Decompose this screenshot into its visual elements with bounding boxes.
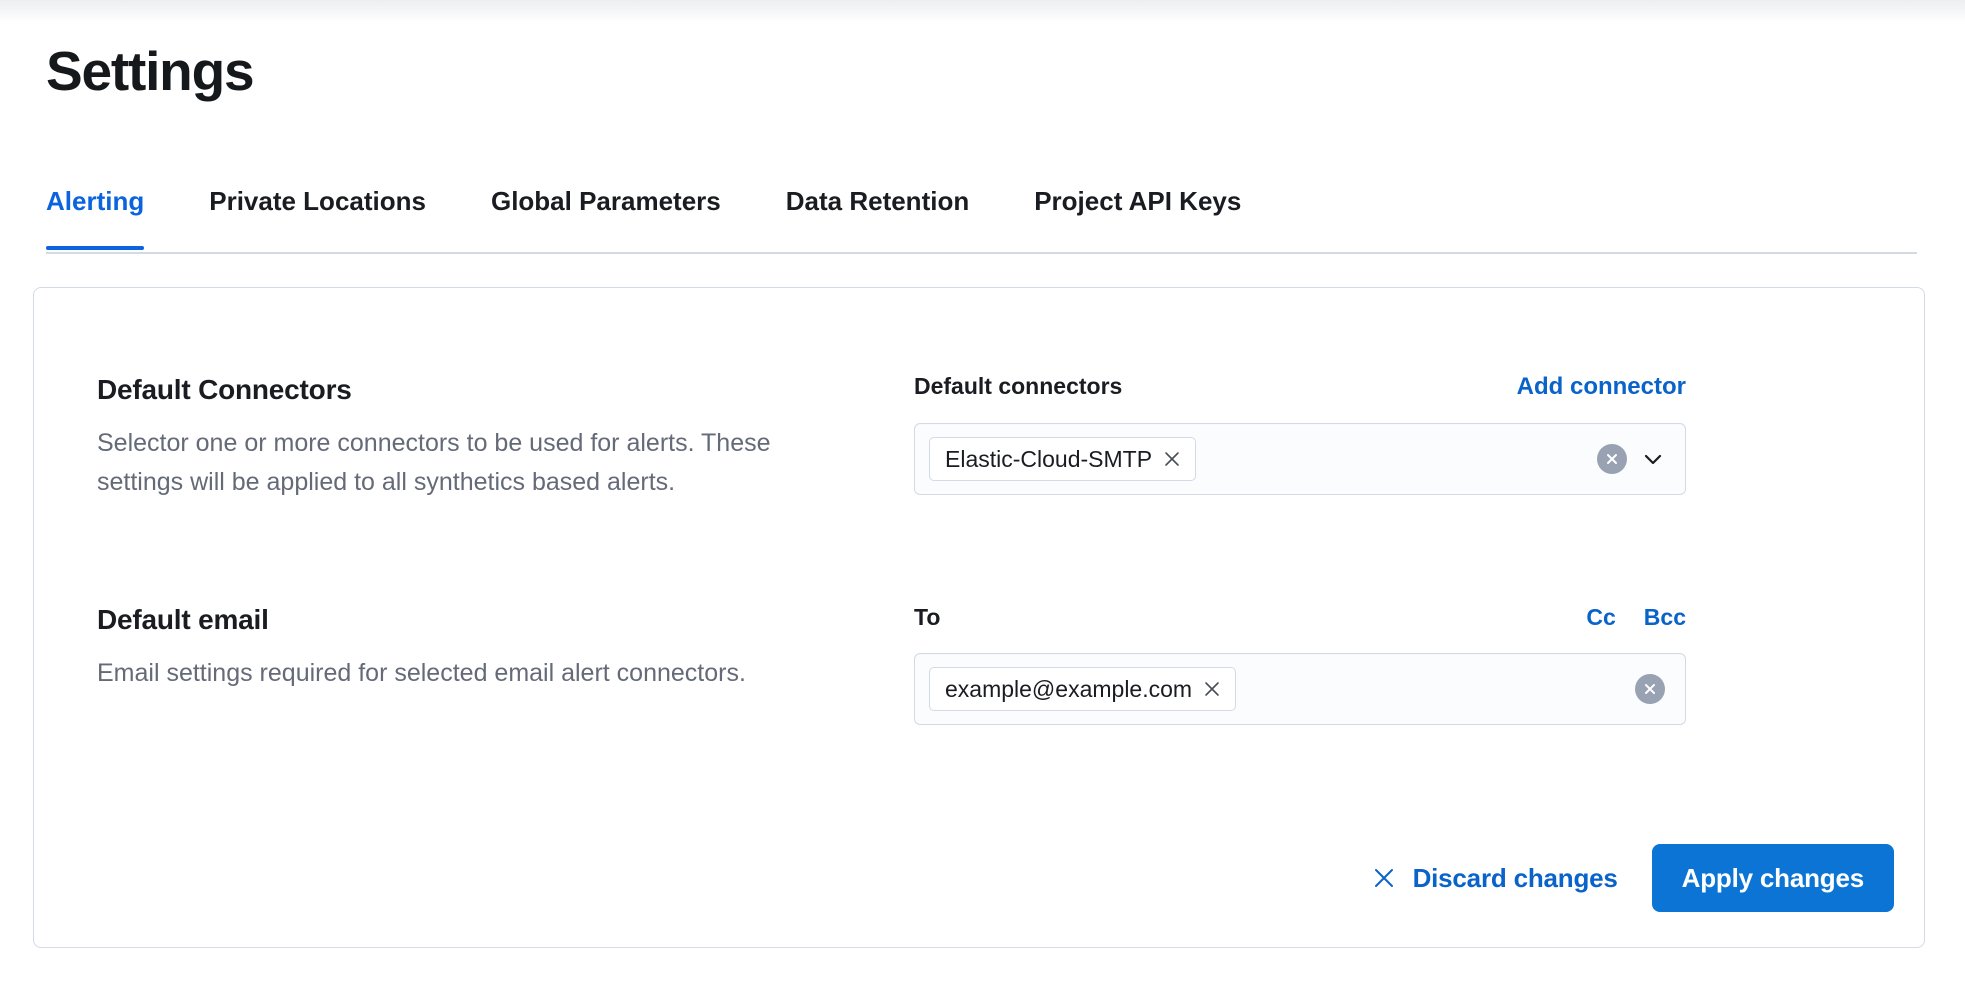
settings-page: Settings Alerting Private Locations Glob… [0, 0, 1965, 989]
default-connectors-field-actions: Add connector [1517, 373, 1686, 401]
clear-recipients-icon[interactable] [1635, 674, 1665, 704]
tab-alerting[interactable]: Alerting [46, 186, 144, 248]
bcc-link[interactable]: Bcc [1644, 603, 1686, 631]
tab-project-api-keys[interactable]: Project API Keys [1034, 186, 1241, 248]
page-title: Settings [46, 40, 253, 102]
remove-recipient-icon[interactable] [1202, 679, 1222, 699]
chevron-down-icon[interactable] [1639, 445, 1667, 473]
default-connectors-title: Default Connectors [97, 373, 857, 407]
discard-changes-button[interactable]: Discard changes [1365, 853, 1624, 904]
tab-label: Data Retention [786, 186, 969, 216]
alerting-settings-panel: Default Connectors Selector one or more … [33, 287, 1925, 948]
default-email-description-column: Default email Email settings required fo… [97, 603, 857, 693]
default-email-title: Default email [97, 603, 857, 637]
apply-changes-button[interactable]: Apply changes [1652, 844, 1894, 912]
default-email-control-column: To Cc Bcc example@example.com [914, 603, 1686, 725]
panel-footer-actions: Discard changes Apply changes [1365, 844, 1894, 912]
tab-private-locations[interactable]: Private Locations [209, 186, 426, 248]
default-connectors-description-column: Default Connectors Selector one or more … [97, 373, 857, 502]
default-connectors-field-header: Default connectors Add connector [914, 373, 1686, 403]
tab-label: Project API Keys [1034, 186, 1241, 216]
default-connectors-description: Selector one or more connectors to be us… [97, 424, 837, 502]
to-recipients-combobox[interactable]: example@example.com [914, 653, 1686, 725]
cc-link[interactable]: Cc [1586, 603, 1615, 631]
discard-changes-label: Discard changes [1413, 863, 1618, 894]
default-connectors-control-column: Default connectors Add connector Elastic… [914, 373, 1686, 495]
default-email-field-header: To Cc Bcc [914, 603, 1686, 633]
clear-connectors-icon[interactable] [1597, 444, 1627, 474]
email-recipient-label: example@example.com [945, 667, 1192, 711]
connector-pill[interactable]: Elastic-Cloud-SMTP [929, 437, 1196, 481]
settings-tabs: Alerting Private Locations Global Parame… [46, 186, 1917, 254]
email-recipient-pill[interactable]: example@example.com [929, 667, 1236, 711]
tab-label: Global Parameters [491, 186, 721, 216]
close-icon [1371, 865, 1397, 891]
remove-connector-icon[interactable] [1162, 449, 1182, 469]
tab-global-parameters[interactable]: Global Parameters [491, 186, 721, 248]
default-connectors-combobox[interactable]: Elastic-Cloud-SMTP [914, 423, 1686, 495]
default-connectors-field-label: Default connectors [914, 373, 1122, 400]
add-connector-link[interactable]: Add connector [1517, 373, 1686, 401]
tab-label: Alerting [46, 186, 144, 216]
email-field-actions: Cc Bcc [1586, 603, 1686, 631]
default-email-description: Email settings required for selected ema… [97, 654, 837, 693]
tab-label: Private Locations [209, 186, 426, 216]
connector-pill-label: Elastic-Cloud-SMTP [945, 437, 1152, 481]
tab-data-retention[interactable]: Data Retention [786, 186, 969, 248]
to-field-label: To [914, 604, 940, 631]
top-gradient-shade [0, 0, 1965, 22]
